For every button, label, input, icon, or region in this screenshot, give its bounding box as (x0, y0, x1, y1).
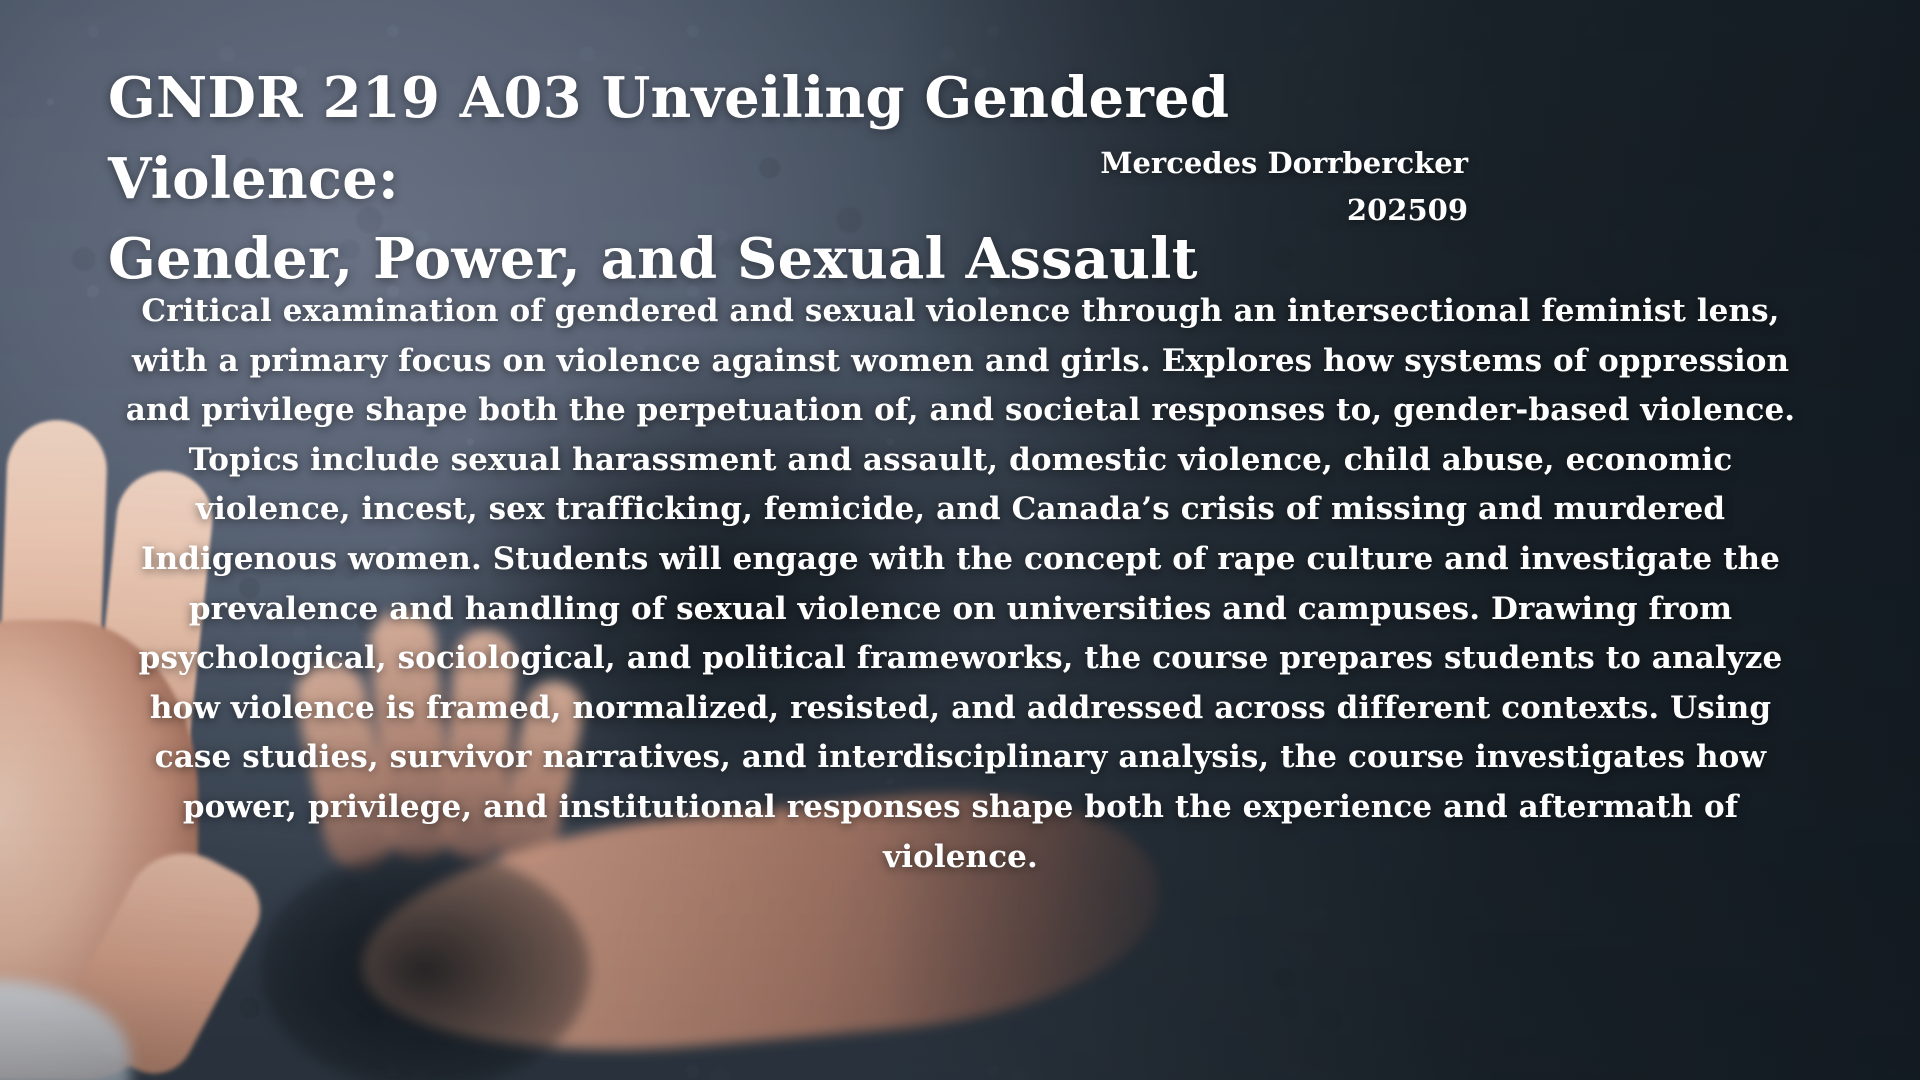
slide-content: GNDR 219 A03 Unveiling Gendered Violence… (0, 0, 1920, 1080)
term-code: 202509 (948, 187, 1468, 234)
course-meta-block: Mercedes Dorrbercker 202509 (948, 140, 1468, 234)
course-slide: GNDR 219 A03 Unveiling Gendered Violence… (0, 0, 1920, 1080)
course-description: Critical examination of gendered and sex… (108, 287, 1813, 882)
instructor-name: Mercedes Dorrbercker (948, 140, 1468, 187)
